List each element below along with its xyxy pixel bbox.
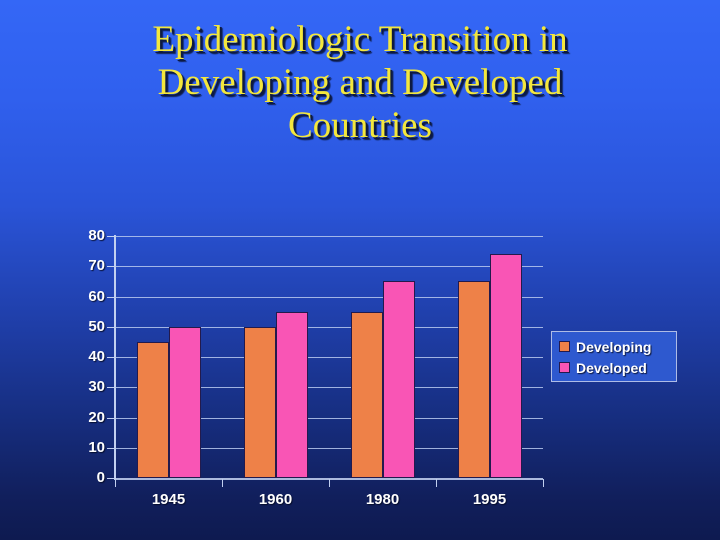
y-tick-mark <box>107 266 115 267</box>
bar-developed-1995[interactable] <box>490 254 522 478</box>
y-tick-mark <box>107 236 115 237</box>
chart-legend: Developing Developed <box>551 331 677 382</box>
y-tick-mark <box>107 418 115 419</box>
y-axis-tick-label: 0 <box>63 469 105 486</box>
y-axis-tick-label: 60 <box>63 288 105 305</box>
x-axis-tick-label: 1960 <box>221 491 331 508</box>
x-tick-mark <box>329 479 330 487</box>
x-axis-tick-label: 1980 <box>328 491 438 508</box>
bar-developing-1960[interactable] <box>244 327 276 478</box>
y-axis-tick-label: 70 <box>63 257 105 274</box>
legend-item-developing[interactable]: Developing <box>559 336 676 357</box>
slide-canvas: Epidemiologic Transition in Developing a… <box>0 0 720 540</box>
x-tick-mark <box>436 479 437 487</box>
y-tick-mark <box>107 387 115 388</box>
legend-label-developed: Developed <box>576 360 647 376</box>
bar-developing-1995[interactable] <box>458 281 490 478</box>
y-axis-tick-label: 20 <box>63 409 105 426</box>
y-axis-tick-label: 80 <box>63 227 105 244</box>
legend-item-developed[interactable]: Developed <box>559 357 676 378</box>
legend-label-developing: Developing <box>576 339 651 355</box>
x-axis-tick-label: 1995 <box>435 491 545 508</box>
x-axis-tick-label: 1945 <box>114 491 224 508</box>
y-axis-tick-label: 30 <box>63 378 105 395</box>
gridline <box>115 236 543 237</box>
x-tick-mark <box>115 479 116 487</box>
y-tick-mark <box>107 357 115 358</box>
plot-area <box>115 236 543 478</box>
y-tick-mark <box>107 448 115 449</box>
bar-developing-1980[interactable] <box>351 312 383 478</box>
x-tick-mark <box>543 479 544 487</box>
grouped-bar-chart: 01020304050607080 1945196019801995 <box>0 0 720 540</box>
y-tick-mark <box>107 297 115 298</box>
legend-swatch-developing-icon <box>559 341 570 352</box>
bar-developed-1960[interactable] <box>276 312 308 478</box>
bar-developing-1945[interactable] <box>137 342 169 478</box>
bar-developed-1980[interactable] <box>383 281 415 478</box>
x-tick-mark <box>222 479 223 487</box>
legend-swatch-developed-icon <box>559 362 570 373</box>
gridline <box>115 266 543 267</box>
y-axis-tick-label: 40 <box>63 348 105 365</box>
y-axis-tick-label: 50 <box>63 318 105 335</box>
y-tick-mark <box>107 478 115 479</box>
bar-developed-1945[interactable] <box>169 327 201 478</box>
y-axis-tick-label: 10 <box>63 439 105 456</box>
y-tick-mark <box>107 327 115 328</box>
